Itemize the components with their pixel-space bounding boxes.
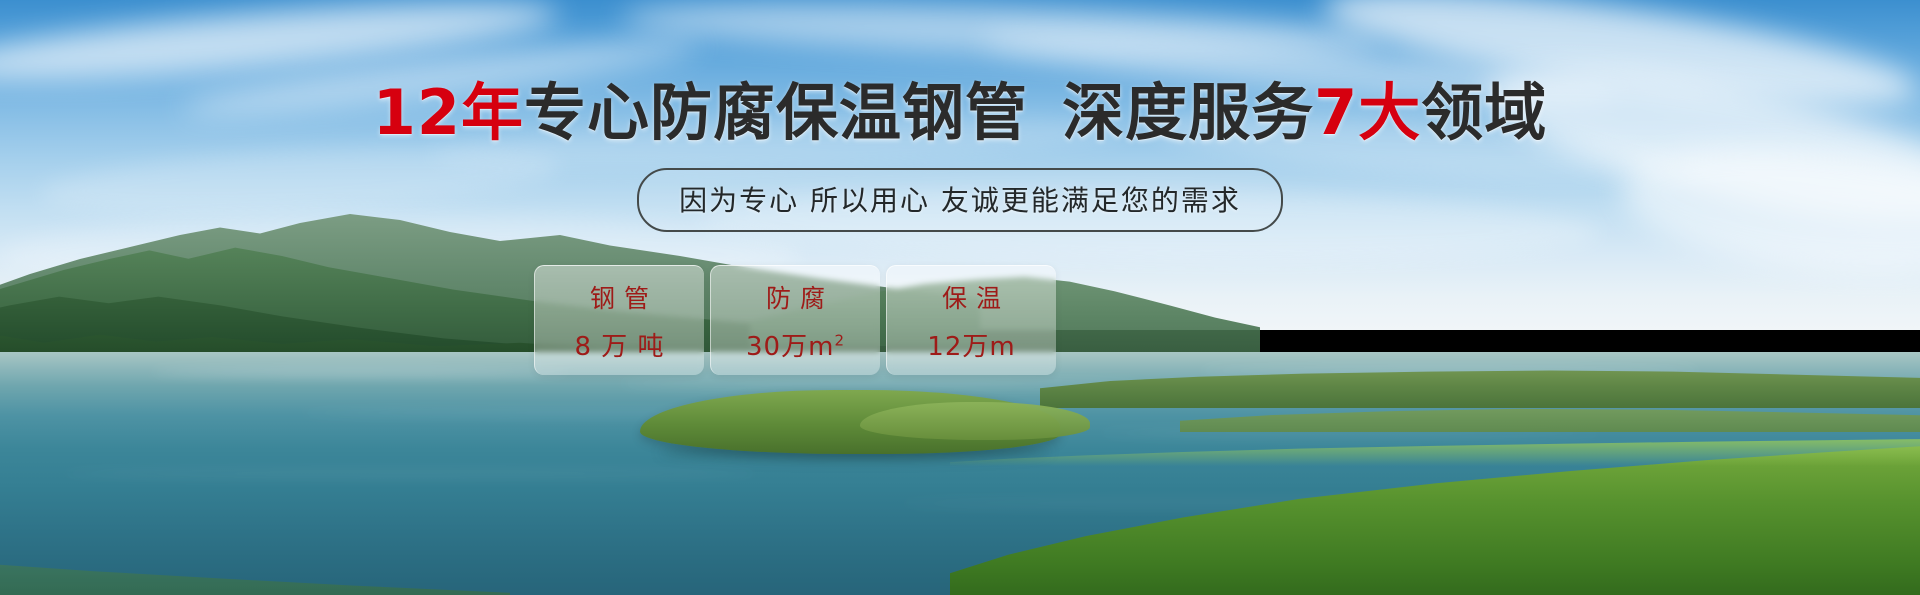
headline-count: 7大 xyxy=(1314,76,1421,149)
stat-label: 保温 xyxy=(933,279,1010,315)
stat-value-superscript: 2 xyxy=(834,331,845,349)
headline-years: 12年 xyxy=(373,76,524,149)
promo-banner: 12年专心防腐保温钢管深度服务7大领域 因为专心 所以用心 友诚更能满足您的需求… xyxy=(0,0,1920,595)
stat-value-main: 8 万 吨 xyxy=(574,332,664,362)
stat-value: 30万m2 xyxy=(746,326,845,363)
stat-card-steel-pipe[interactable]: 钢管 8 万 吨 xyxy=(534,265,704,375)
stat-value: 8 万 吨 xyxy=(574,326,664,363)
stat-card-insulation[interactable]: 保温 12万m xyxy=(886,265,1056,375)
subtitle-pill: 因为专心 所以用心 友诚更能满足您的需求 xyxy=(637,168,1283,232)
stat-value-main: 30万m xyxy=(746,332,834,362)
stat-label: 钢管 xyxy=(581,279,658,315)
stat-cards: 钢管 8 万 吨 防腐 30万m2 保温 12万m xyxy=(534,265,1056,375)
banner-content: 12年专心防腐保温钢管深度服务7大领域 因为专心 所以用心 友诚更能满足您的需求… xyxy=(0,0,1920,595)
stat-value-main: 12万m xyxy=(927,332,1015,362)
headline: 12年专心防腐保温钢管深度服务7大领域 xyxy=(0,82,1920,144)
subtitle-container: 因为专心 所以用心 友诚更能满足您的需求 xyxy=(0,168,1920,232)
headline-fields: 领域 xyxy=(1421,76,1547,149)
headline-main: 专心防腐保温钢管 xyxy=(524,76,1028,149)
stat-label: 防腐 xyxy=(757,279,834,315)
stat-card-anticorrosion[interactable]: 防腐 30万m2 xyxy=(710,265,880,375)
stat-value: 12万m xyxy=(927,326,1015,363)
headline-service: 深度服务 xyxy=(1062,76,1314,149)
